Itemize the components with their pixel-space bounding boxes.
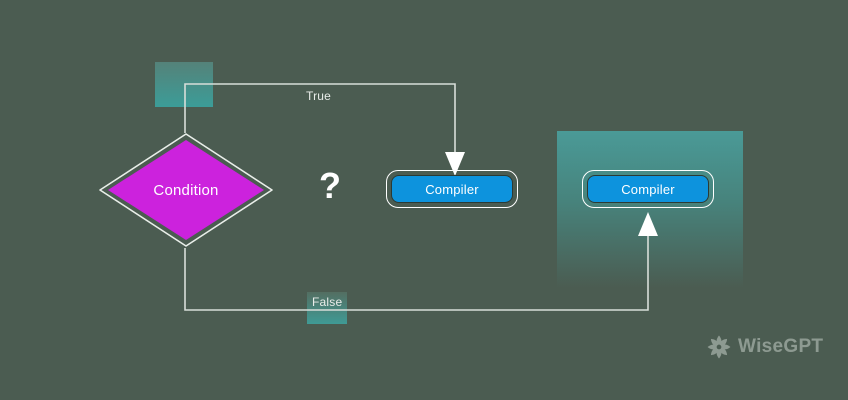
process-node-body: Compiler xyxy=(587,175,709,203)
process-node-label: Compiler xyxy=(621,182,675,197)
process-node-compiler-false[interactable]: Compiler xyxy=(582,170,714,208)
process-node-body: Compiler xyxy=(391,175,513,203)
decision-node-label: Condition xyxy=(98,132,274,248)
decision-node-condition[interactable]: Condition xyxy=(98,132,274,248)
process-node-label: Compiler xyxy=(425,182,479,197)
watermark: WiseGPT xyxy=(706,334,823,360)
wisegpt-pinwheel-logo-icon xyxy=(706,334,732,360)
edge-false-arrowhead xyxy=(638,212,658,236)
question-mark-annotation: ? xyxy=(313,163,347,209)
edge-label-true: True xyxy=(306,89,331,103)
watermark-brand-text: WiseGPT xyxy=(738,336,823,358)
edge-label-false: False xyxy=(312,295,342,309)
diagram-canvas: Condition Compiler Compiler True False ? xyxy=(0,0,848,400)
process-node-compiler-true[interactable]: Compiler xyxy=(386,170,518,208)
